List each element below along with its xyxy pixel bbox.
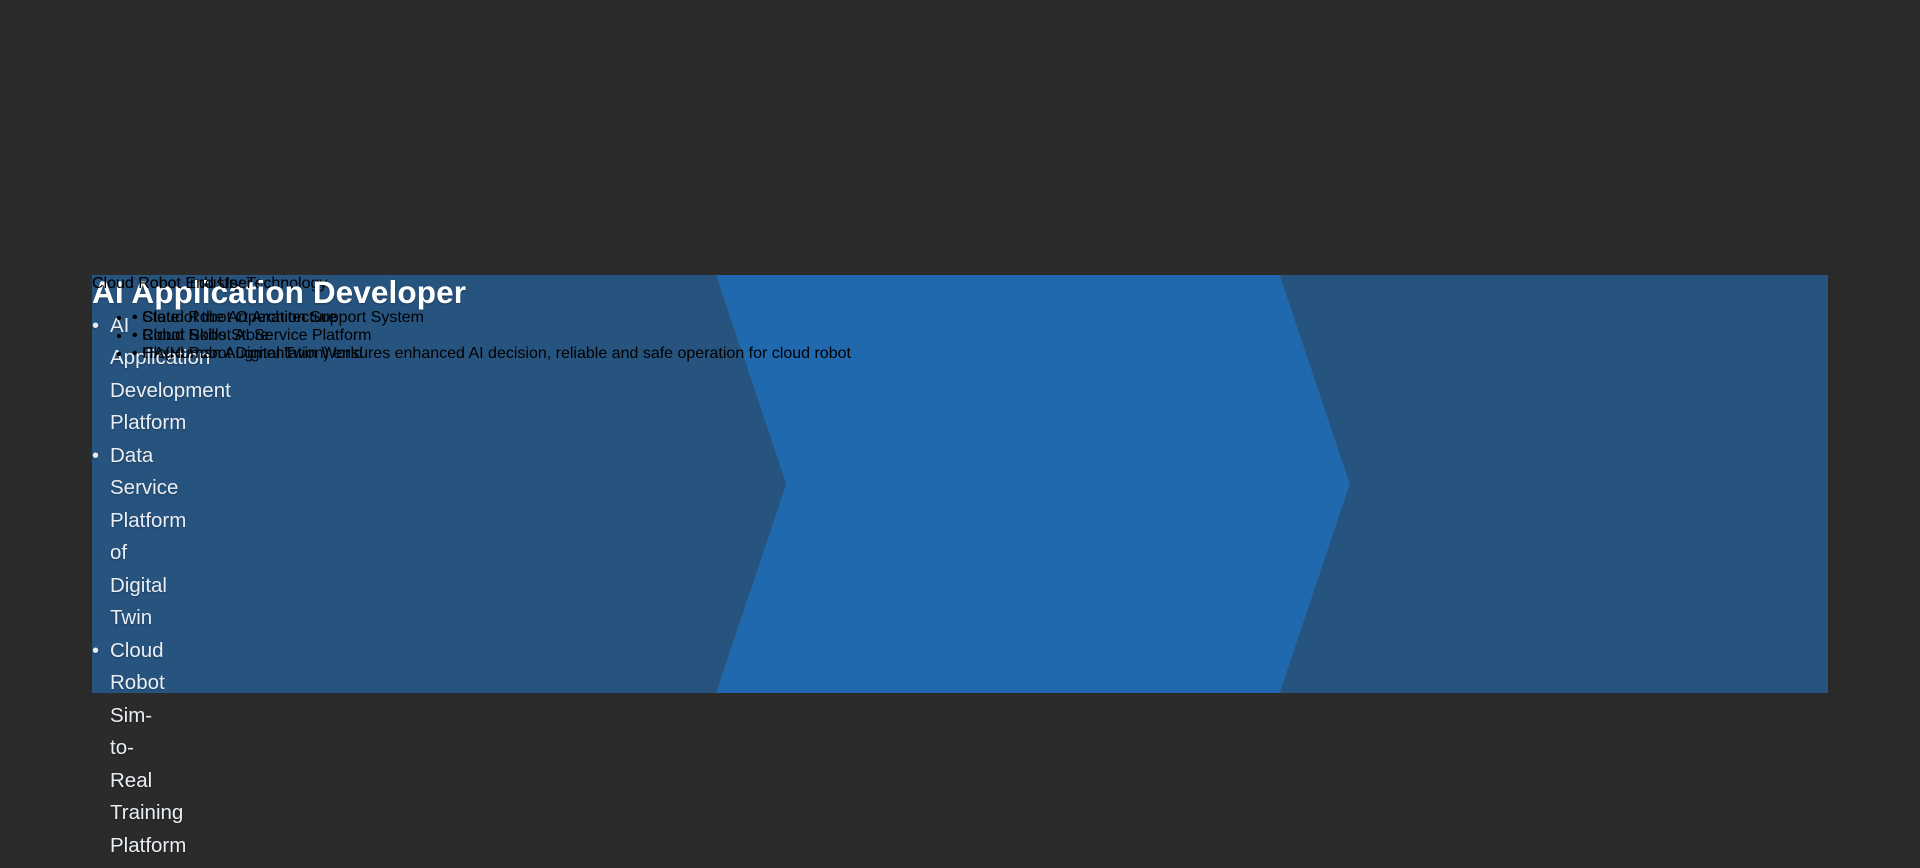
chevron-shape-3: [1280, 275, 1828, 693]
list-item[interactable]: • Cloud Robot Group Intelligent Evolutio…: [92, 862, 110, 868]
list-item-label: Robot Skills Store: [142, 327, 269, 344]
three-stage-chevron-banner: Cloud Robot Industry Technology • State …: [92, 275, 1828, 693]
list-item[interactable]: • Cloud Robot Operation Support System: [132, 309, 851, 327]
bullet-dot-icon: •: [132, 309, 138, 326]
panel-3-content: Cloud Robot End User • Cloud Robot Opera…: [92, 275, 851, 363]
bullet-dot-icon: •: [92, 862, 99, 868]
panel-cloud-robot-end-user[interactable]: Cloud Robot End User • Cloud Robot Opera…: [92, 275, 851, 693]
panel-3-bullet-list: • Cloud Robot Operation Support System •…: [92, 309, 851, 363]
bullet-dot-icon: •: [132, 345, 138, 362]
list-item[interactable]: • HA(Human Augmentation) ensures enhance…: [132, 345, 851, 363]
list-item[interactable]: • Robot Skills Store: [132, 327, 851, 345]
panel-3-title: Cloud Robot End User: [92, 275, 851, 293]
list-item-label: HA(Human Augmentation) ensures enhanced …: [142, 345, 851, 362]
list-item-label: Cloud Robot Operation Support System: [142, 309, 424, 326]
slide-canvas: Cloud Robot Industry Technology • State …: [0, 0, 1920, 868]
bullet-dot-icon: •: [132, 327, 138, 344]
